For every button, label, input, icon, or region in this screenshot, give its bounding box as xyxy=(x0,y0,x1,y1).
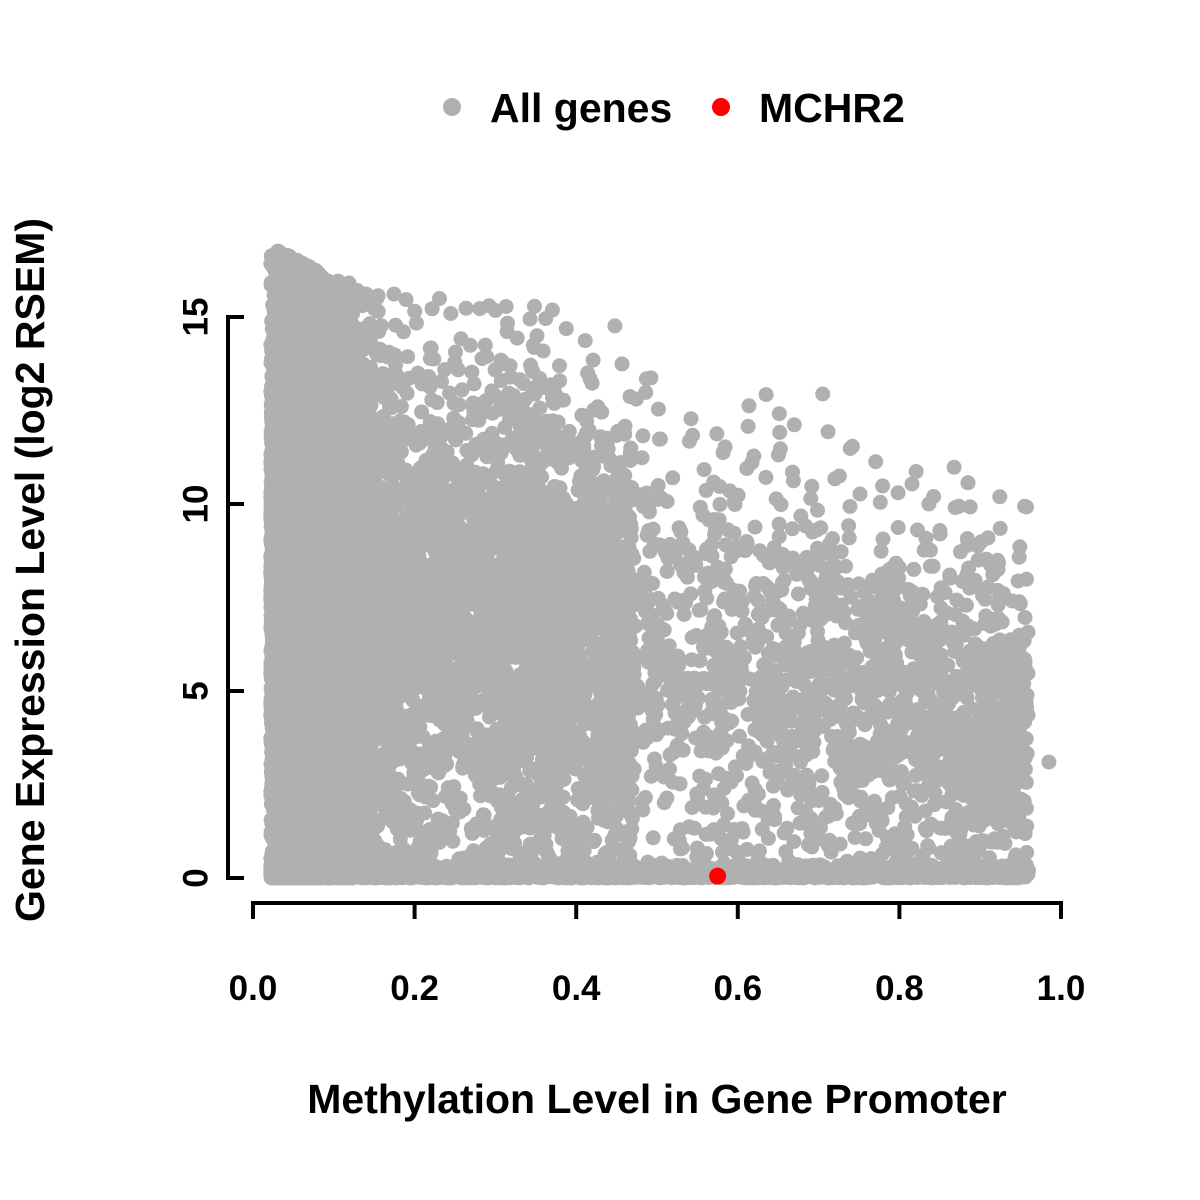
gene-point xyxy=(947,460,962,475)
gene-point xyxy=(926,559,941,574)
gene-point xyxy=(766,779,781,794)
gene-point xyxy=(713,497,728,512)
gene-point xyxy=(651,402,666,417)
gene-point xyxy=(992,489,1007,504)
gene-point xyxy=(578,333,593,348)
gene-point xyxy=(665,470,680,485)
gene-point xyxy=(586,353,601,368)
gene-point xyxy=(891,520,906,535)
data-points-layer xyxy=(263,244,1056,886)
gene-point xyxy=(646,830,661,845)
gene-point xyxy=(709,426,724,441)
gene-point xyxy=(787,417,802,432)
scatter-plot-figure: 0.00.20.40.60.81.0 051015 Methylation Le… xyxy=(0,0,1200,1200)
gene-point xyxy=(748,520,763,535)
gene-point xyxy=(742,398,757,413)
gene-point xyxy=(761,831,776,846)
gene-point xyxy=(875,478,890,493)
gene-point xyxy=(552,358,567,373)
plot-canvas: 0.00.20.40.60.81.0 051015 Methylation Le… xyxy=(0,0,1200,1200)
